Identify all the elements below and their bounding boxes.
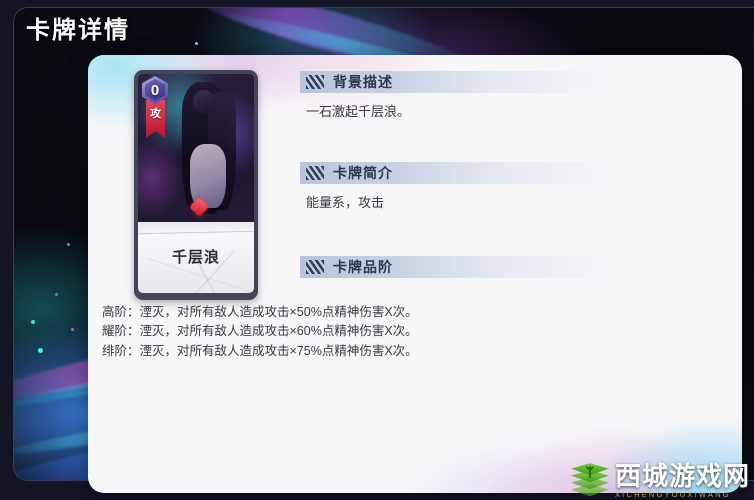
card-art-figure-head [193, 90, 215, 114]
section-title: 卡牌简介 [333, 163, 393, 183]
card-name-plate: 千层浪 [138, 222, 254, 293]
card-thumbnail[interactable]: 千层浪 0 攻 [134, 70, 258, 300]
watermark-pinyin: XICHENGYOUXIWANG [615, 491, 750, 499]
banner-sparkle-6 [195, 42, 198, 45]
section-title: 背景描述 [333, 72, 393, 92]
section-title: 卡牌品阶 [333, 257, 393, 277]
banner-sparkle-4 [71, 328, 74, 331]
cost-badge: 0 [142, 76, 168, 104]
page-title: 卡牌详情 [26, 10, 130, 45]
card-bottom-notch [176, 294, 216, 300]
section-background-description: 背景描述 一石激起千层浪。 [300, 71, 620, 122]
section-card-intro: 卡牌简介 能量系，攻击 [300, 162, 620, 213]
screenshot-root: 卡牌详情 千层浪 [0, 0, 754, 500]
section-spacer-1 [300, 126, 620, 162]
banner-sparkle-2 [55, 293, 58, 296]
section-spacer-2 [300, 216, 620, 256]
hatch-stripes-icon [306, 260, 324, 274]
watermark-texts: 西城游戏网 XICHENGYOUXIWANG [615, 463, 750, 499]
banner-sparkle-3 [31, 320, 35, 324]
cost-value: 0 [142, 76, 168, 104]
rank-line-gao: 高阶：湮灭，对所有敌人造成攻击×50%点精神伤害X次。 [102, 303, 728, 322]
hatch-stripes-icon [306, 75, 324, 89]
rank-line-fei: 绯阶：湮灭，对所有敌人造成攻击×75%点精神伤害X次。 [102, 342, 728, 361]
card-art-figure-body [190, 144, 226, 208]
banner-sparkle-5 [38, 348, 43, 353]
rank-line-yao: 耀阶：湮灭，对所有敌人造成攻击×60%点精神伤害X次。 [102, 322, 728, 341]
card-rank-list: 高阶：湮灭，对所有敌人造成攻击×50%点精神伤害X次。 耀阶：湮灭，对所有敌人造… [102, 303, 728, 361]
section-body: 一石激起千层浪。 [300, 93, 620, 122]
card-type-label: 攻 [146, 105, 165, 121]
section-body: 能量系，攻击 [300, 184, 620, 213]
section-header: 背景描述 [300, 71, 620, 93]
card-detail-sections: 背景描述 一石激起千层浪。 卡牌简介 能量系，攻击 卡牌品阶 [300, 71, 620, 282]
hatch-stripes-icon [306, 166, 324, 180]
card-name: 千层浪 [138, 246, 254, 267]
card-detail-panel: 千层浪 0 攻 背景描述 一石激起千层浪。 [88, 55, 742, 493]
layered-leaf-logo-icon [571, 463, 609, 497]
section-header: 卡牌品阶 [300, 256, 620, 278]
site-watermark: 西城游戏网 XICHENGYOUXIWANG [571, 463, 750, 499]
section-header: 卡牌简介 [300, 162, 620, 184]
watermark-name: 西城游戏网 [615, 463, 750, 489]
card-name-plate-edge [138, 222, 254, 233]
banner-sparkle-1 [67, 243, 70, 246]
section-card-rank: 卡牌品阶 [300, 256, 620, 278]
